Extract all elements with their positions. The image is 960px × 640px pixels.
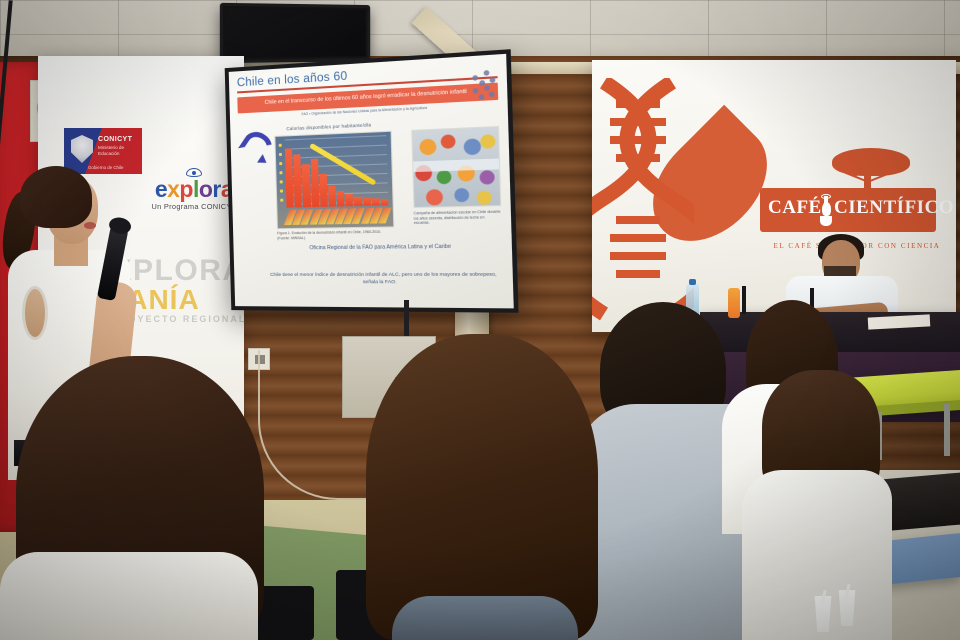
chart-bar [319, 174, 327, 207]
tv-screen [225, 8, 365, 58]
slide-photo-children [411, 126, 501, 208]
chart-bar [328, 186, 336, 207]
chart-bar [354, 196, 362, 206]
photo-light-band [413, 158, 499, 172]
audience-member-hair [366, 334, 598, 640]
microphone-stand-left [742, 286, 746, 314]
slide-body-text: Oficina Regional de la FAO para América … [267, 243, 498, 253]
university-crest-icon [470, 70, 498, 104]
table-leg [944, 404, 950, 456]
presenter-lips [84, 222, 96, 229]
chart-bar [363, 197, 371, 206]
conicyt-name: CONICYT [98, 136, 132, 143]
curved-arrow-icon [238, 126, 277, 165]
chart-bar [372, 199, 380, 206]
projection-screen: Chile en los años 60 Chile en el transcu… [225, 49, 519, 313]
coat-of-arms-icon [71, 135, 93, 163]
slide-bar-chart [274, 131, 394, 230]
wall-tv [220, 3, 370, 63]
conicyt-logo: CONICYT Ministerio de Educación Gobierno… [64, 128, 142, 174]
cientifico-word: CIENTÍFICO [834, 197, 954, 219]
chart-plot-area [285, 135, 389, 208]
presenter-sleeve-detail [22, 286, 48, 340]
juice-bottle [728, 288, 740, 318]
chart-bar [337, 191, 345, 206]
chart-source-note: Figura 1. Evolución de la desnutrición i… [277, 230, 395, 241]
chart-bar [293, 154, 302, 208]
presenter-hair [20, 166, 92, 228]
chart-caption: Calorías disponibles por habitante/día [286, 122, 371, 131]
cafe-cientifico-logo: CAFÉ CIENTÍFICO UNIVERSIDAD DE LA FRONTE… [760, 188, 936, 232]
watermark-subtitle: PROYECTO REGIONAL [112, 314, 312, 324]
chart-x-axis-labels [287, 208, 389, 225]
chart-bars [285, 135, 389, 208]
conicyt-subtitle: Ministerio de Educación [98, 145, 140, 157]
photo-scene: GAR CONICYT Ministerio de Educación Gobi… [0, 0, 960, 640]
tree-canopy [832, 148, 910, 176]
audience-member-shirt [392, 596, 578, 640]
slide-photo-caption: Campaña de alimentación escolar en Chile… [414, 209, 502, 225]
eye-icon [186, 168, 202, 177]
chart-bar [345, 194, 353, 207]
bottle-cap [689, 279, 696, 285]
cafe-cientifico-banner: CAFÉ CIENTÍFICO UNIVERSIDAD DE LA FRONTE… [592, 60, 956, 332]
cup-base [820, 216, 832, 226]
presentation-slide: Chile en los años 60 Chile en el transcu… [229, 54, 514, 309]
audience-member-shirt [0, 552, 258, 640]
conicyt-footer: Gobierno de Chile [88, 165, 123, 170]
chart-bar [380, 199, 388, 205]
flask-bulb [822, 202, 831, 216]
flask-cup-icon [818, 194, 834, 226]
chart-bar [310, 159, 319, 207]
cafe-word: CAFÉ [768, 197, 822, 219]
slide-footer-text: Chile tiene el menor índice de desnutric… [268, 271, 499, 286]
chart-bar [302, 165, 311, 208]
